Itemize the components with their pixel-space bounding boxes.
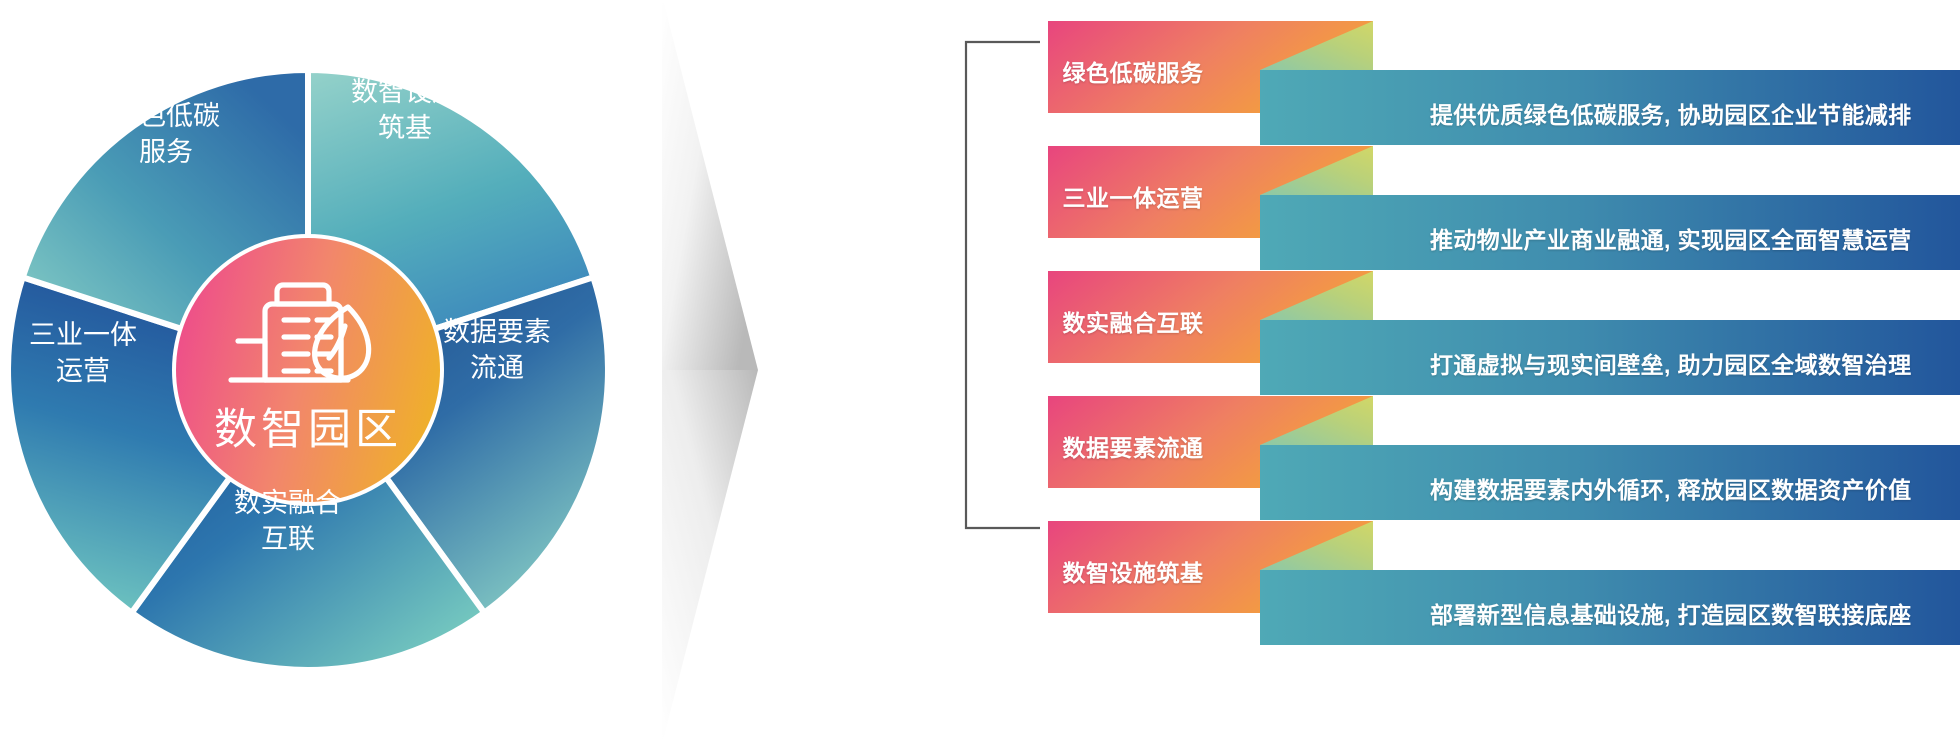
wheel-label-facility-line1: 数智设施 (351, 77, 459, 107)
capability-row-3[interactable]: 数实融合互联 打通虚拟与现实间壁垒, 助力园区全域数智治理 (1030, 264, 1960, 402)
wheel-label-green-line1: 绿色低碳 (112, 101, 220, 131)
capability-row-1[interactable]: 绿色低碳服务 提供优质绿色低碳服务, 协助园区企业节能减排 (1030, 14, 1960, 152)
capability-rows: 绿色低碳服务 提供优质绿色低碳服务, 协助园区企业节能减排 (1030, 0, 1960, 739)
wheel-label-facility-line2: 筑基 (378, 113, 432, 143)
wheel-label-data-line2: 流通 (470, 353, 524, 383)
capability-row-2[interactable]: 三业一体运营 推动物业产业商业融通, 实现园区全面智慧运营 (1030, 139, 1960, 277)
chevron-lower-half (662, 370, 758, 744)
chevron-upper-half (662, 0, 758, 370)
wheel-label-green-line2: 服务 (139, 137, 193, 167)
row-title-4: 数据要素流通 (1048, 429, 1218, 463)
row-title-5: 数智设施筑基 (1048, 554, 1218, 588)
wheel-label-data-line1: 数据要素 (443, 317, 551, 347)
wheel-label-operation-line2: 运营 (56, 356, 110, 386)
capability-row-4[interactable]: 数据要素流通 构建数据要素内外循环, 释放园区数据资产价值 (1030, 389, 1960, 527)
row-title-2: 三业一体运营 (1048, 179, 1218, 213)
capability-wheel: 数智园区 数智设施 筑基 数据要素 流通 数实融合 互联 三业一体 运营 绿色低… (0, 0, 700, 752)
wheel-label-operation-line1: 三业一体 (29, 320, 137, 350)
chevron-connector (640, 0, 840, 750)
row-desc-4: 构建数据要素内外循环, 释放园区数据资产价值 (1430, 471, 1912, 505)
wheel-label-fusion-line1: 数实融合 (234, 488, 342, 518)
wheel-label-fusion-line2: 互联 (261, 524, 315, 554)
bracket-path (966, 42, 1040, 528)
row-desc-3: 打通虚拟与现实间壁垒, 助力园区全域数智治理 (1430, 346, 1912, 380)
wheel-core-label: 数智园区 (214, 406, 402, 454)
row-title-1: 绿色低碳服务 (1048, 54, 1218, 88)
row-desc-2: 推动物业产业商业融通, 实现园区全面智慧运营 (1430, 221, 1912, 255)
row-desc-1: 提供优质绿色低碳服务, 协助园区企业节能减排 (1430, 96, 1912, 130)
capability-row-5[interactable]: 数智设施筑基 部署新型信息基础设施, 打造园区数智联接底座 (1030, 514, 1960, 652)
row-title-3: 数实融合互联 (1048, 304, 1218, 338)
row-desc-5: 部署新型信息基础设施, 打造园区数智联接底座 (1430, 596, 1912, 630)
diagram-canvas: 数智园区 数智设施 筑基 数据要素 流通 数实融合 互联 三业一体 运营 绿色低… (0, 0, 1960, 739)
